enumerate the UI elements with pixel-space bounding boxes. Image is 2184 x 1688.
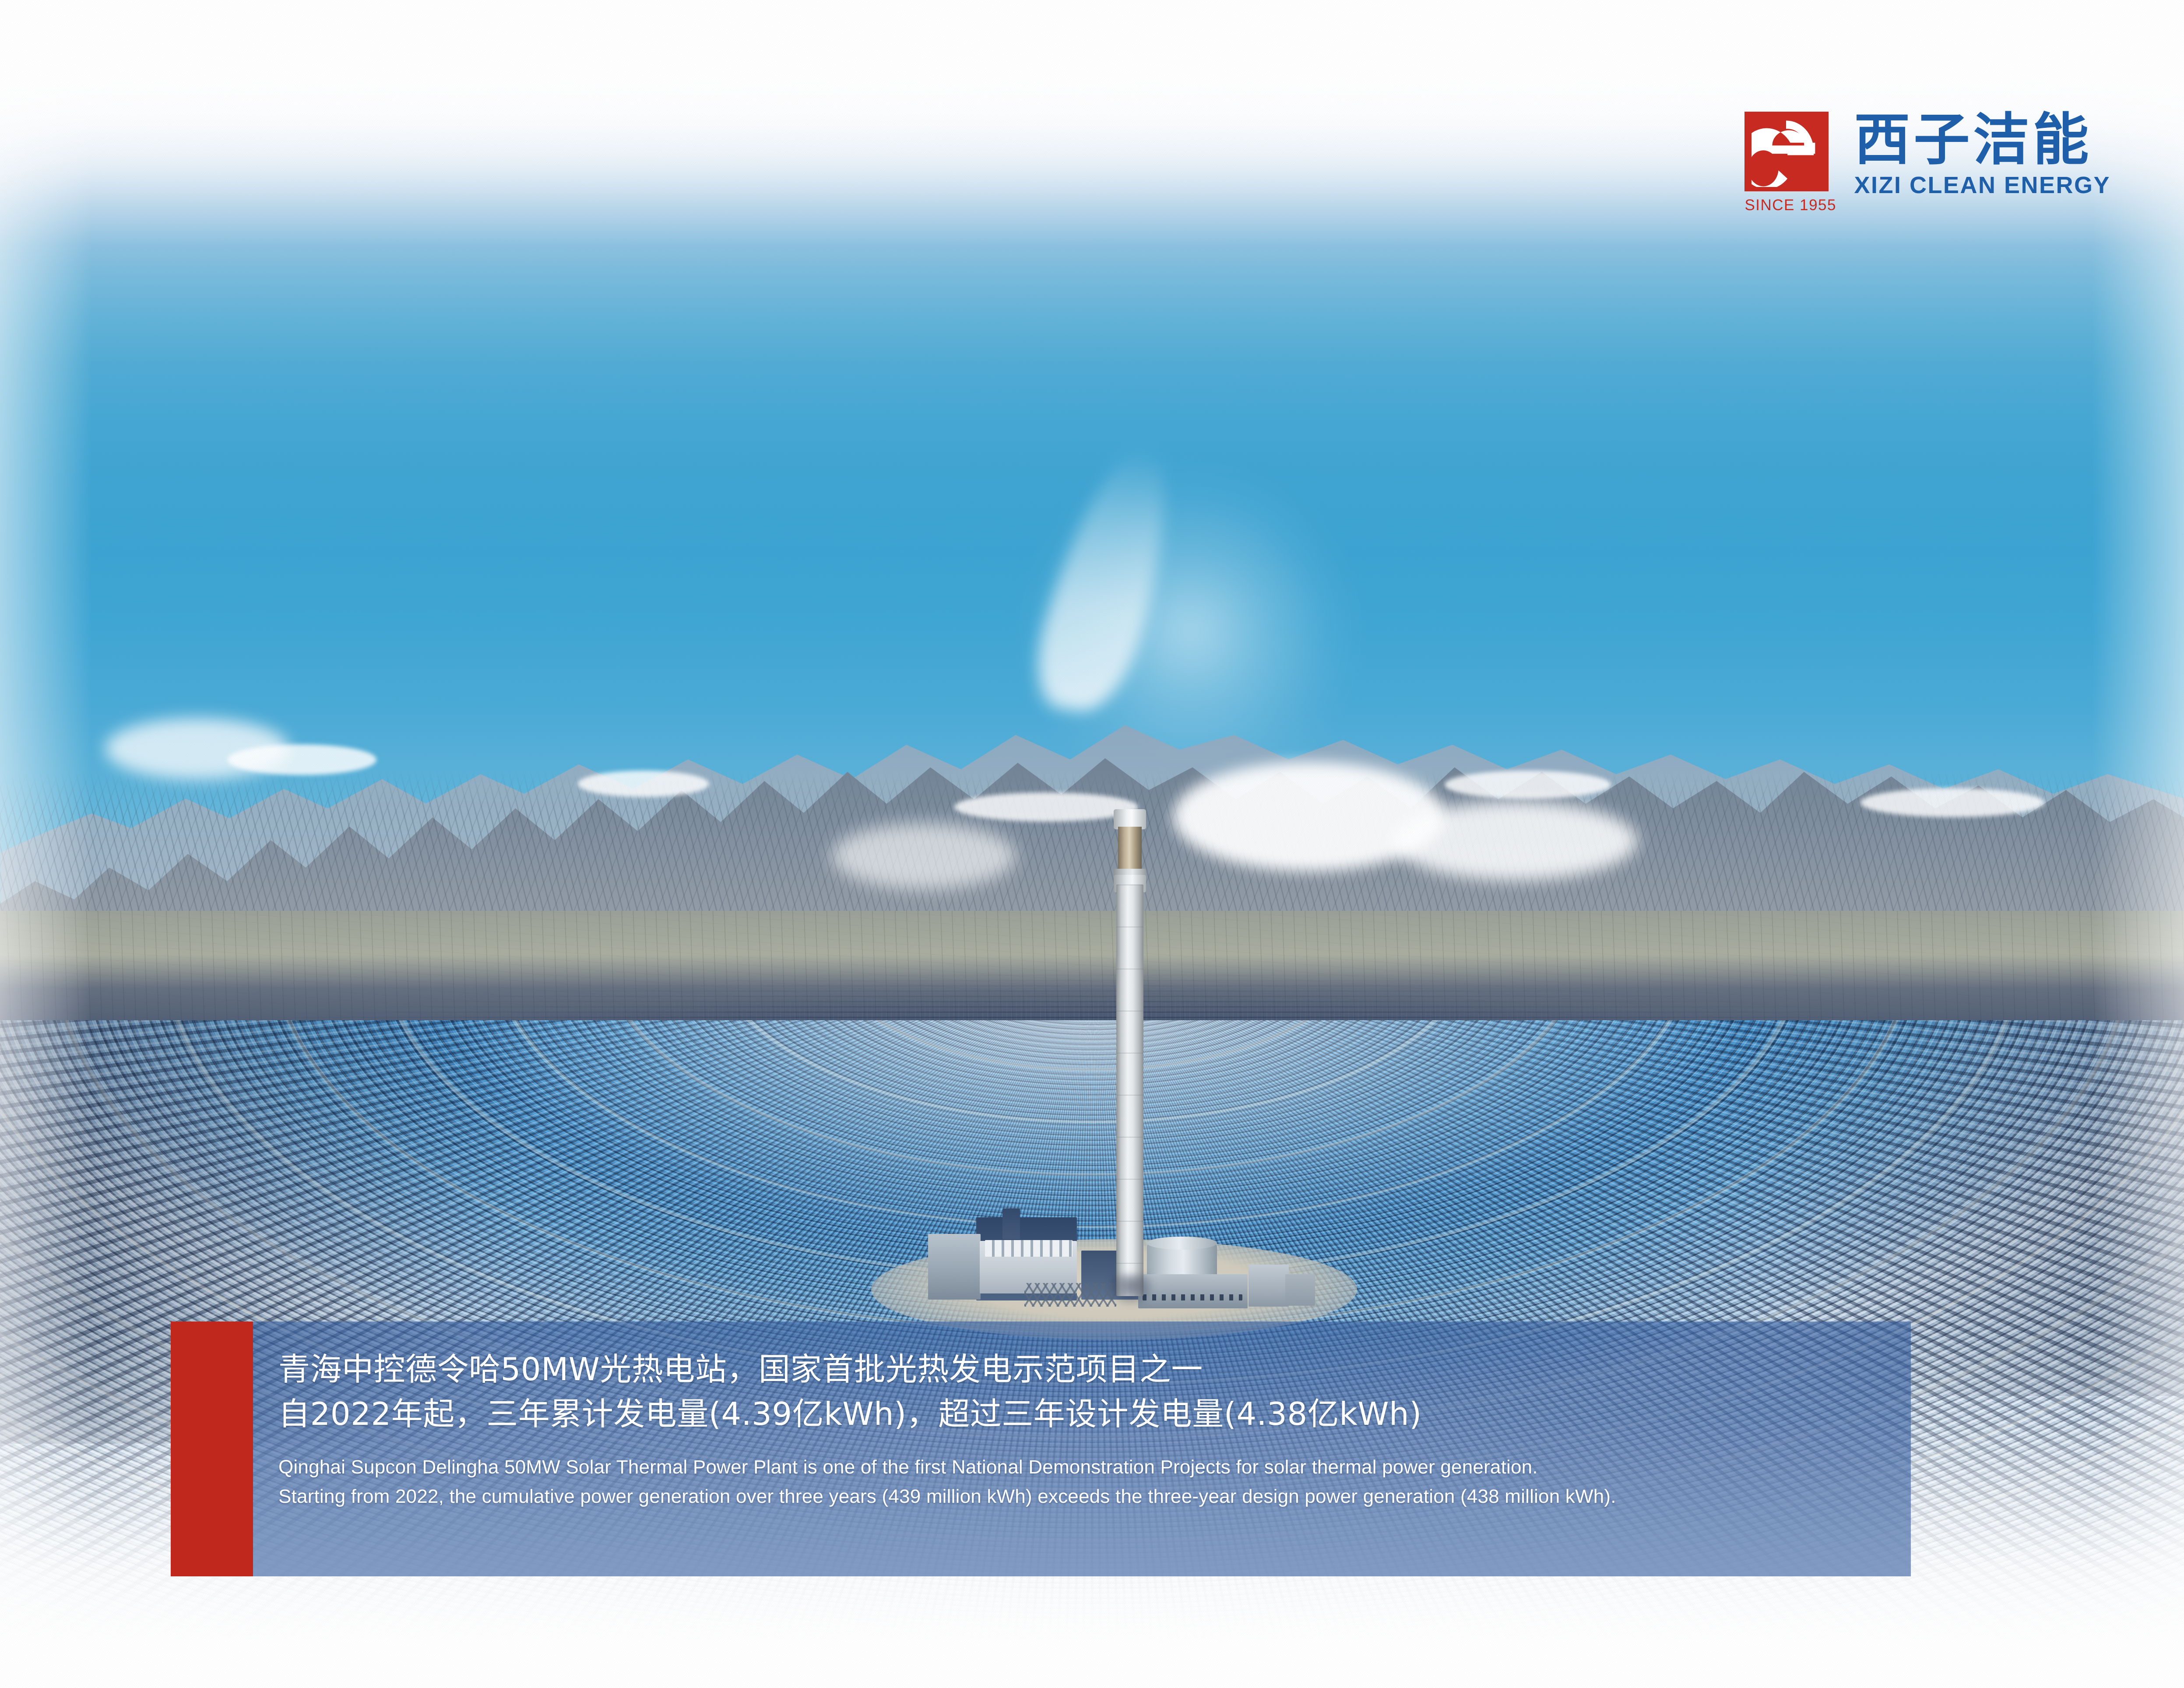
logo-red-square — [1744, 112, 1829, 191]
cloud — [105, 718, 289, 779]
stack — [1002, 1209, 1020, 1239]
pipe-rack-truss — [1024, 1283, 1116, 1307]
snow-cap — [954, 793, 1138, 821]
tank-roof — [1147, 1237, 1217, 1250]
caption-en-line-2: Starting from 2022, the cumulative power… — [278, 1482, 1893, 1512]
logo-since-text: SINCE 1955 — [1744, 197, 1829, 214]
control-building-windows — [1143, 1294, 1242, 1300]
photo-left-fade — [0, 0, 92, 1646]
annex-building — [1249, 1265, 1289, 1307]
solar-receiver-tower — [1112, 775, 1148, 1296]
control-building — [1138, 1274, 1248, 1308]
logo-name-en: XIZI CLEAN ENERGY — [1854, 172, 2110, 199]
cloud — [1392, 801, 1637, 880]
sun-glare — [963, 394, 1401, 788]
air-cooler-fins — [985, 1240, 1073, 1257]
annex-building — [1285, 1274, 1315, 1306]
logo-mark: SINCE 1955 — [1744, 112, 1829, 214]
photo-right-fade — [2092, 0, 2184, 1646]
side-building — [928, 1234, 981, 1300]
xizi-e-monogram-icon — [1751, 118, 1821, 187]
logo-wordmark: 西子洁能 XIZI CLEAN ENERGY — [1854, 112, 2110, 199]
caption-en-line-1: Qinghai Supcon Delingha 50MW Solar Therm… — [278, 1453, 1893, 1482]
snow-cap — [1445, 771, 1611, 799]
caption-panel: 青海中控德令哈50MW光热电站，国家首批光热发电示范项目之一 自2022年起，三… — [253, 1322, 1911, 1576]
caption-en-group: Qinghai Supcon Delingha 50MW Solar Therm… — [278, 1453, 1893, 1512]
snow-cap — [578, 771, 709, 797]
tower-ground-shadow — [1110, 1274, 1152, 1305]
cloud — [832, 823, 1016, 889]
snow-cap — [1860, 788, 2044, 817]
caption-cn-line-2: 自2022年起，三年累计发电量(4.39亿kWh)，超过三年设计发电量(4.38… — [278, 1392, 1893, 1436]
tower-shaft-bands — [1116, 885, 1143, 1296]
caption-block: 青海中控德令哈50MW光热电站，国家首批光热发电示范项目之一 自2022年起，三… — [171, 1322, 1911, 1576]
poster-page: SINCE 1955 西子洁能 XIZI CLEAN ENERGY 青海中控德令… — [0, 0, 2184, 1688]
logo-name-cn: 西子洁能 — [1854, 112, 2110, 169]
caption-accent-bar — [171, 1322, 253, 1576]
caption-cn-line-1: 青海中控德令哈50MW光热电站，国家首批光热发电示范项目之一 — [278, 1347, 1893, 1392]
brand-logo: SINCE 1955 西子洁能 XIZI CLEAN ENERGY — [1744, 112, 2110, 214]
